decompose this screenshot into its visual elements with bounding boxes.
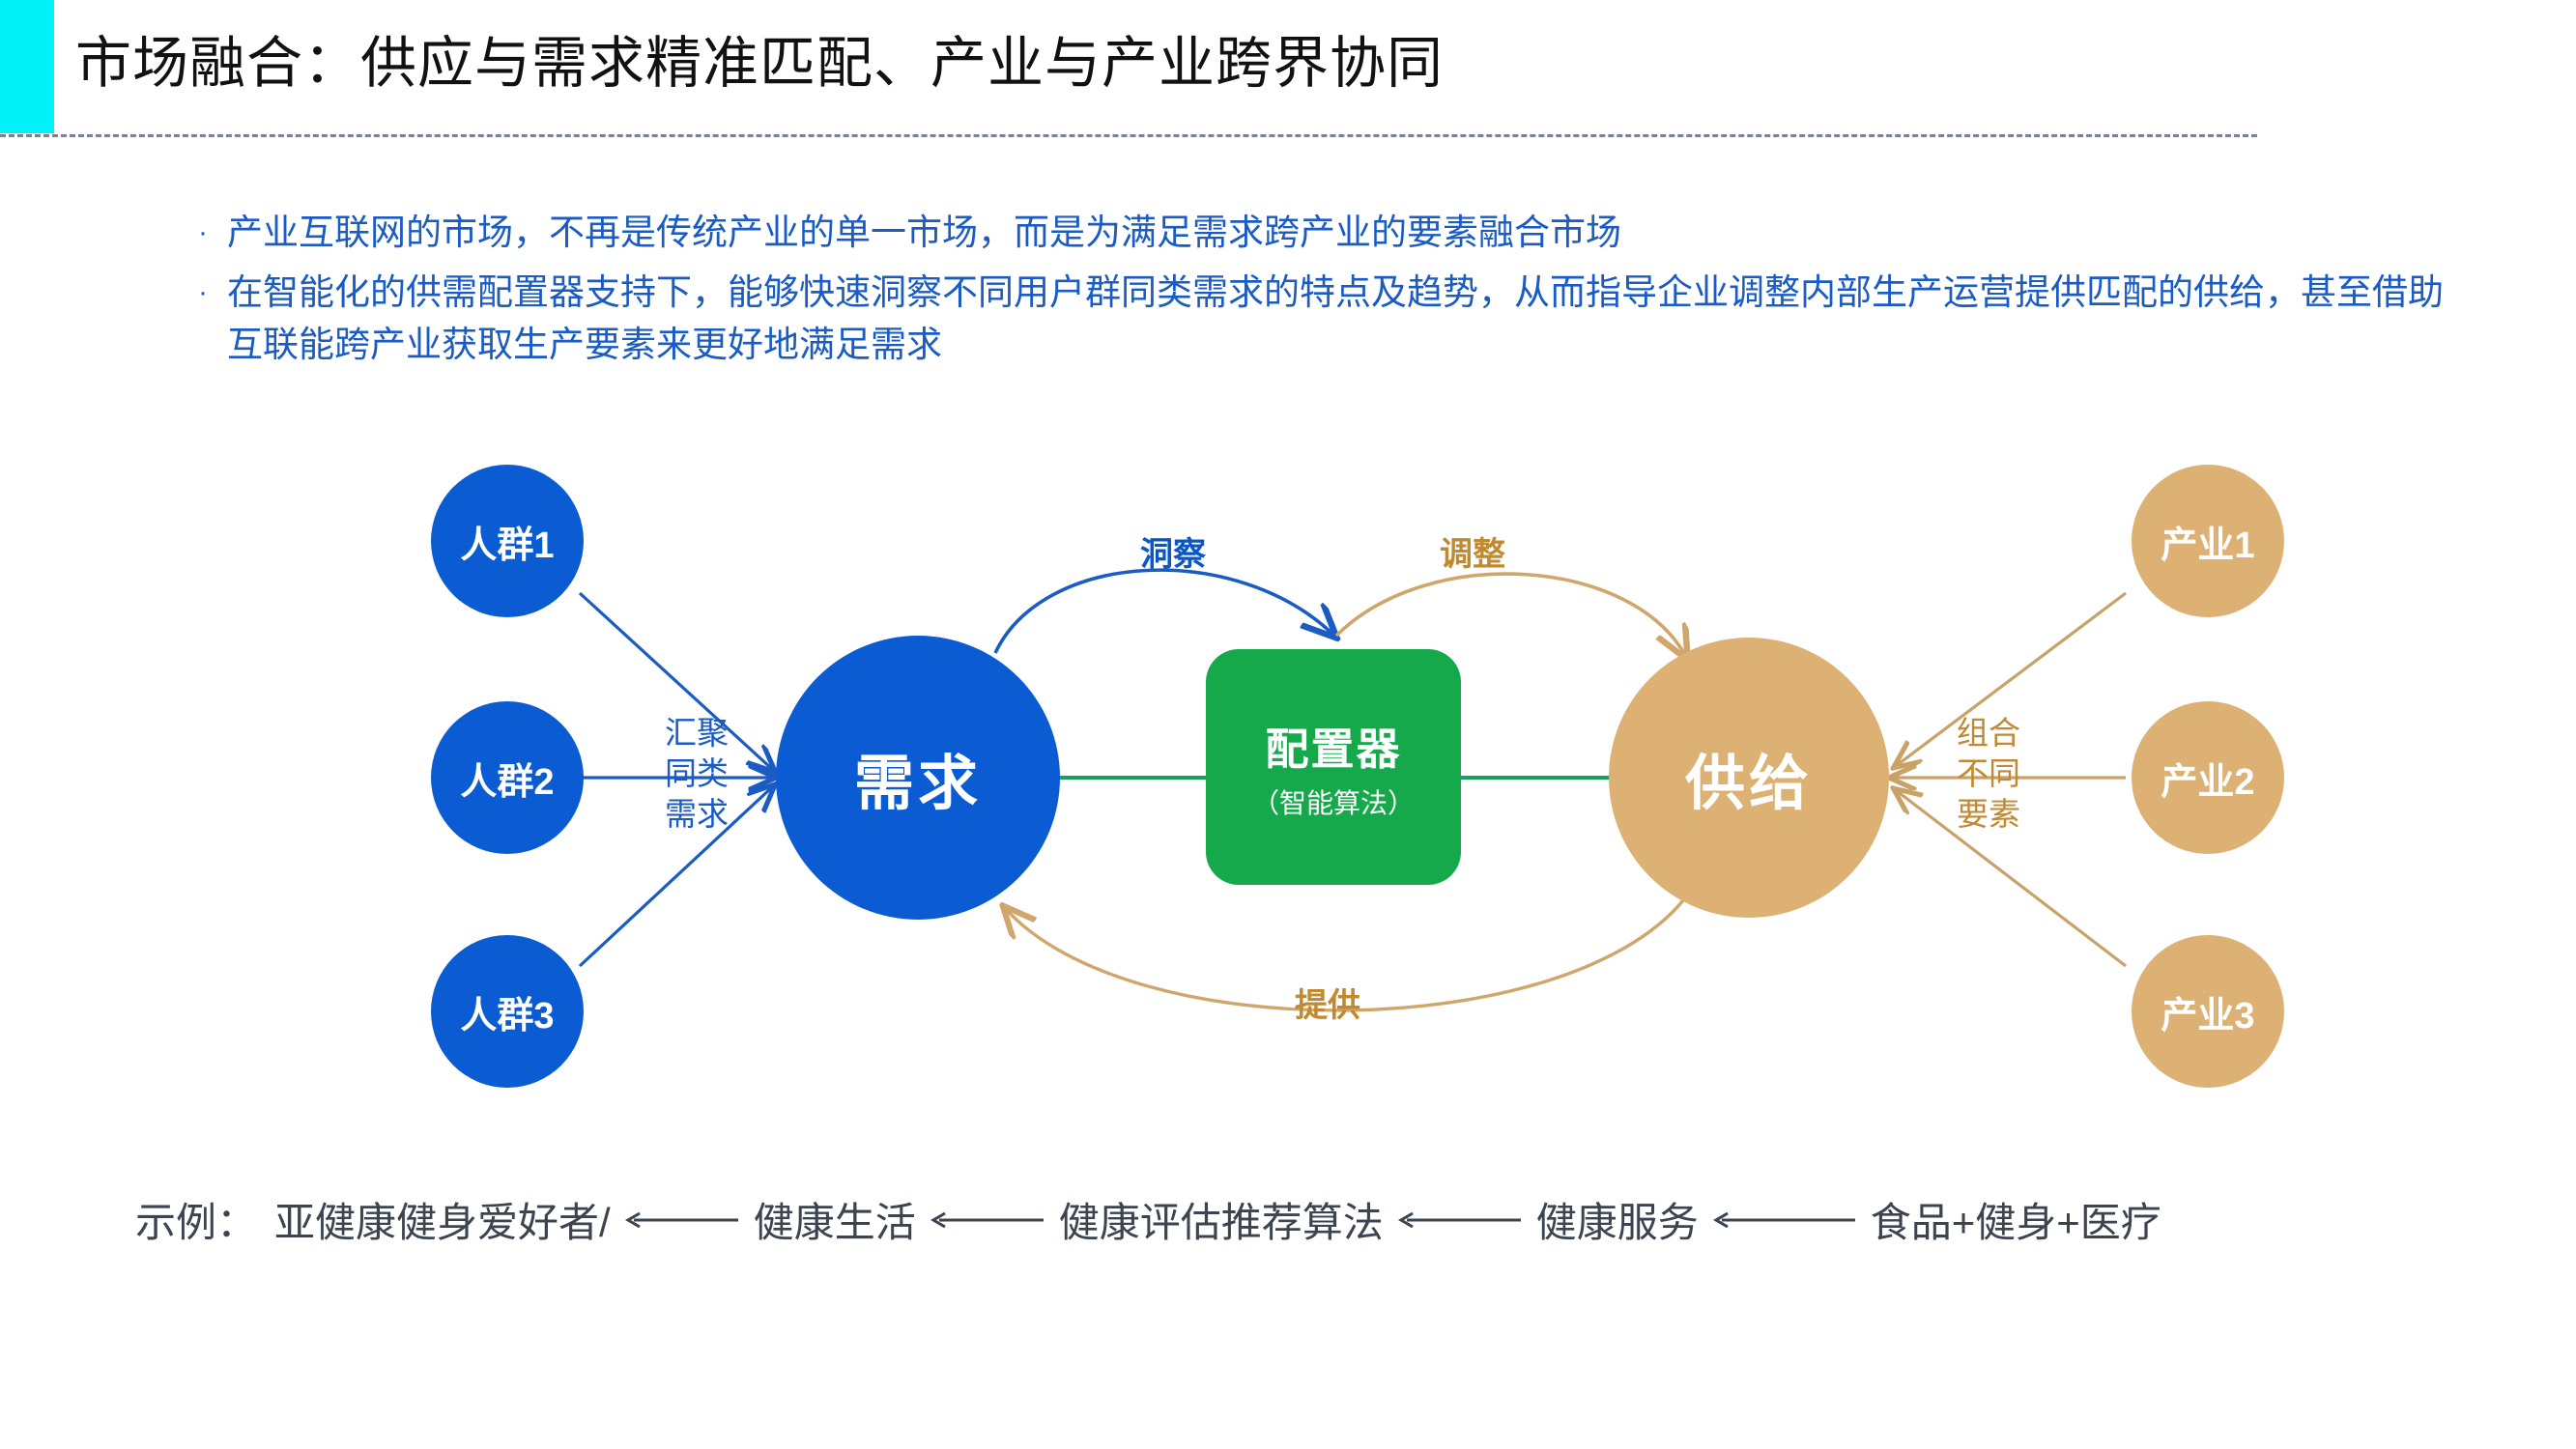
left-arrow-icon: [624, 1209, 740, 1231]
node-industry-1-label: 产业1: [2161, 515, 2254, 568]
node-crowd-1[interactable]: 人群1: [431, 465, 584, 617]
arc-label-insight: 洞察: [1140, 527, 1206, 575]
left-arrow-icon: [930, 1209, 1045, 1231]
example-label: 示例：: [135, 1190, 257, 1249]
node-demand-label: 需求: [854, 734, 982, 821]
arc-adjust: [1336, 574, 1686, 657]
arc-label-adjust: 调整: [1440, 527, 1505, 575]
bullet-text-1: 产业互联网的市场，不再是传统产业的单一市场，而是为满足需求跨产业的要素融合市场: [227, 207, 2449, 259]
bullet-text-2: 在智能化的供需配置器支持下，能够快速洞察不同用户群同类需求的特点及趋势，从而指导…: [227, 267, 2449, 371]
node-crowd-2-label: 人群2: [460, 752, 554, 805]
example-item-1: 亚健康健身爱好者/: [274, 1190, 611, 1249]
arc-insight: [995, 570, 1334, 653]
node-configurator[interactable]: 配置器 （智能算法）: [1206, 649, 1461, 885]
configurator-subtitle: （智能算法）: [1252, 782, 1415, 821]
node-supply[interactable]: 供给: [1609, 638, 1889, 918]
bullet-item-2: · 在智能化的供需配置器支持下，能够快速洞察不同用户群同类需求的特点及趋势，从而…: [198, 267, 2449, 371]
node-industry-2[interactable]: 产业2: [2132, 701, 2284, 854]
example-item-5: 食品+健身+医疗: [1871, 1190, 2161, 1249]
node-demand[interactable]: 需求: [776, 636, 1060, 920]
node-industry-1[interactable]: 产业1: [2132, 465, 2284, 617]
node-crowd-1-label: 人群1: [460, 515, 554, 568]
example-item-3: 健康评估推荐算法: [1059, 1190, 1384, 1249]
bullet-dot-icon: ·: [198, 207, 227, 259]
left-arrow-icon: [1712, 1209, 1857, 1231]
arc-label-provide: 提供: [1295, 979, 1360, 1026]
node-industry-2-label: 产业2: [2161, 752, 2254, 805]
bullet-dot-icon: ·: [198, 267, 227, 319]
bullet-item-1: · 产业互联网的市场，不再是传统产业的单一市场，而是为满足需求跨产业的要素融合市…: [198, 207, 2449, 259]
configurator-title: 配置器: [1265, 714, 1401, 777]
node-crowd-2[interactable]: 人群2: [431, 701, 584, 854]
page-title: 市场融合：供应与需求精准匹配、产业与产业跨界协同: [75, 17, 1444, 99]
title-accent-bar: [0, 0, 54, 133]
bullet-list: · 产业互联网的市场，不再是传统产业的单一市场，而是为满足需求跨产业的要素融合市…: [198, 207, 2449, 379]
node-crowd-3-label: 人群3: [460, 985, 554, 1038]
example-chain: 示例： 亚健康健身爱好者/ 健康生活 健康评估推荐算法 健康服务 食品+健身+医…: [135, 1190, 2435, 1249]
node-industry-3[interactable]: 产业3: [2132, 935, 2284, 1088]
header-divider: [0, 134, 2257, 137]
example-item-2: 健康生活: [754, 1190, 916, 1249]
left-arrow-icon: [1397, 1209, 1523, 1231]
right-connector-label: 组合 不同 要素: [1931, 713, 2046, 835]
node-supply-label: 供给: [1685, 734, 1813, 821]
node-industry-3-label: 产业3: [2161, 985, 2254, 1038]
left-connector-label: 汇聚 同类 需求: [639, 713, 755, 835]
node-crowd-3[interactable]: 人群3: [431, 935, 584, 1088]
example-item-4: 健康服务: [1536, 1190, 1699, 1249]
